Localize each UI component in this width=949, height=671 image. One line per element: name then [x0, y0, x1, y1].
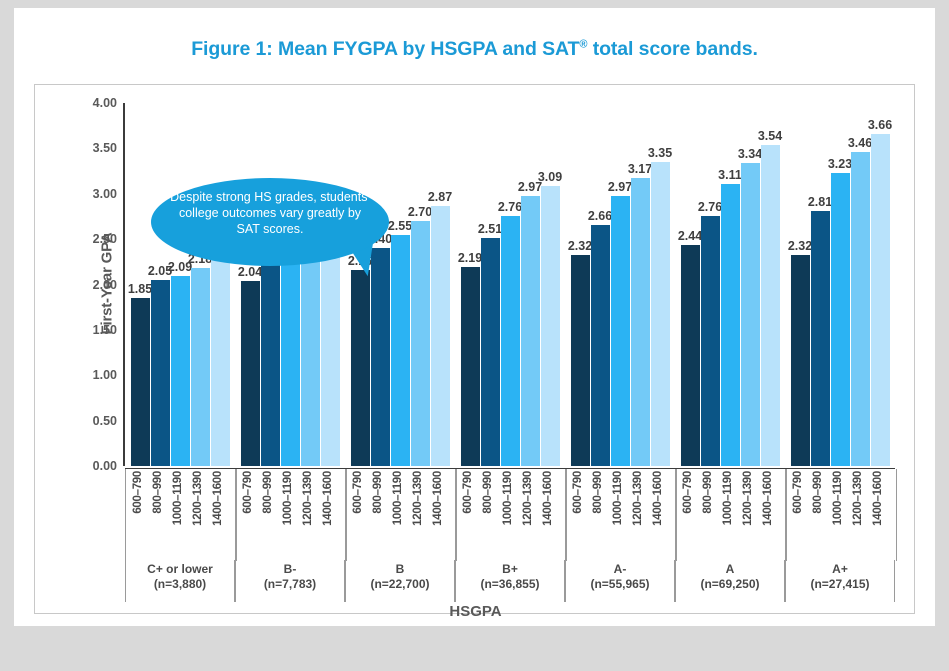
sat-band-label: 800–990 — [812, 471, 831, 514]
bar[interactable] — [481, 238, 500, 466]
sat-band-label: 800–990 — [592, 471, 611, 514]
y-axis-ticks: 0.000.501.001.502.002.503.003.504.00 — [71, 103, 117, 465]
sat-band-label: 800–990 — [152, 471, 171, 514]
y-axis-tick-label: 3.00 — [71, 187, 117, 201]
x-axis-band-ticks: 600–790800–9901000–11901200–13901400–160… — [125, 468, 895, 561]
sat-band-label: 1000–1190 — [832, 471, 851, 525]
bar-value-label: 2.87 — [428, 190, 452, 204]
sat-band-label: 600–790 — [572, 471, 591, 514]
bar[interactable] — [411, 221, 430, 466]
callout-text: Despite strong HS grades, students' coll… — [169, 189, 371, 237]
hsgpa-group-label: A-(n=55,965) — [565, 560, 675, 602]
hsgpa-group-label: B+(n=36,855) — [455, 560, 565, 602]
bar-group: 2.442.763.113.343.54 — [675, 103, 785, 466]
sat-band-label: 1400–1600 — [872, 471, 891, 526]
bar[interactable] — [461, 267, 480, 466]
sat-band-label: 800–990 — [702, 471, 721, 514]
hsgpa-group-count: (n=69,250) — [676, 577, 784, 592]
bar-column[interactable]: 2.76 — [701, 103, 720, 466]
bar[interactable] — [191, 268, 210, 466]
bar-column[interactable]: 2.97 — [521, 103, 540, 466]
bar[interactable] — [131, 298, 150, 466]
hsgpa-group-count: (n=22,700) — [346, 577, 454, 592]
bar-column[interactable]: 2.04 — [241, 103, 260, 466]
hsgpa-group-count: (n=36,855) — [456, 577, 564, 592]
sat-band-label: 1000–1190 — [722, 471, 741, 525]
x-axis-group-labels: C+ or lower(n=3,880)B-(n=7,783)B(n=22,70… — [125, 560, 895, 602]
bar[interactable] — [631, 178, 650, 466]
bar-group: 2.042.242.302.502.64 — [235, 103, 345, 466]
bar-column[interactable]: 2.51 — [481, 103, 500, 466]
bar-column[interactable]: 3.11 — [721, 103, 740, 466]
bar-group: 2.322.662.973.173.35 — [565, 103, 675, 466]
bar-column[interactable]: 2.44 — [681, 103, 700, 466]
bar-group: 2.162.402.552.702.87 — [345, 103, 455, 466]
bar-group: 2.192.512.762.973.09 — [455, 103, 565, 466]
bar-column[interactable]: 2.19 — [461, 103, 480, 466]
figure-page: Figure 1: Mean FYGPA by HSGPA and SAT® t… — [0, 0, 949, 671]
bar-column[interactable]: 1.85 — [131, 103, 150, 466]
sat-band-label: 1200–1390 — [522, 471, 541, 526]
bar-value-label: 3.09 — [538, 170, 562, 184]
y-axis-tick-label: 1.00 — [71, 368, 117, 382]
bar[interactable] — [851, 152, 870, 466]
bar-group: 2.322.813.233.463.66 — [785, 103, 895, 466]
bar-column[interactable]: 3.17 — [631, 103, 650, 466]
bar[interactable] — [351, 270, 370, 466]
hsgpa-group-label: B-(n=7,783) — [235, 560, 345, 602]
bar-value-label: 2.76 — [698, 200, 722, 214]
bar-value-label: 2.19 — [458, 251, 482, 265]
bar[interactable] — [521, 196, 540, 466]
bar-value-label: 3.66 — [868, 118, 892, 132]
bar-column[interactable]: 3.46 — [851, 103, 870, 466]
bar-value-label: 1.85 — [128, 282, 152, 296]
hsgpa-group-label: A(n=69,250) — [675, 560, 785, 602]
bar[interactable] — [541, 186, 560, 466]
bar-column[interactable]: 2.66 — [591, 103, 610, 466]
bar[interactable] — [831, 173, 850, 466]
hsgpa-group-name: C+ or lower — [126, 562, 234, 577]
title-suffix: total score bands. — [587, 38, 757, 60]
band-tick-group: 600–790800–9901000–11901200–13901400–160… — [125, 469, 237, 561]
y-axis-tick-label: 3.50 — [71, 141, 117, 155]
hsgpa-group-name: B+ — [456, 562, 564, 577]
bar[interactable] — [651, 162, 670, 466]
bar[interactable] — [431, 206, 450, 466]
bar-value-label: 2.66 — [588, 209, 612, 223]
bar-column[interactable]: 2.30 — [281, 103, 300, 466]
bar-column[interactable]: 2.64 — [321, 103, 340, 466]
bar-column[interactable]: 2.16 — [351, 103, 370, 466]
band-tick-group: 600–790800–9901000–11901200–13901400–160… — [235, 469, 347, 561]
bar[interactable] — [571, 255, 590, 466]
bar-column[interactable]: 3.23 — [831, 103, 850, 466]
bar-column[interactable]: 2.40 — [371, 103, 390, 466]
bar-value-label: 3.17 — [628, 162, 652, 176]
bar-column[interactable]: 3.66 — [871, 103, 890, 466]
sat-band-label: 600–790 — [132, 471, 151, 514]
bar-value-label: 2.76 — [498, 200, 522, 214]
bar-value-label: 2.70 — [408, 205, 432, 219]
bar-column[interactable]: 2.05 — [151, 103, 170, 466]
bar[interactable] — [681, 245, 700, 466]
bar-column[interactable]: 3.54 — [761, 103, 780, 466]
bar-column[interactable]: 2.32 — [571, 103, 590, 466]
bar[interactable] — [791, 255, 810, 466]
bar-value-label: 2.55 — [388, 219, 412, 233]
bar[interactable] — [741, 163, 760, 466]
y-axis-tick-label: 4.00 — [71, 96, 117, 110]
sat-band-label: 1200–1390 — [742, 471, 761, 526]
sat-band-label: 800–990 — [262, 471, 281, 514]
bar[interactable] — [811, 211, 830, 466]
sat-band-label: 1000–1190 — [392, 471, 411, 525]
bar-column[interactable]: 2.32 — [791, 103, 810, 466]
y-axis-tick-label: 0.50 — [71, 414, 117, 428]
bar-group: 1.852.052.092.182.56 — [125, 103, 235, 466]
hsgpa-group-count: (n=55,965) — [566, 577, 674, 592]
bar-column[interactable]: 2.24 — [261, 103, 280, 466]
bar-column[interactable]: 2.56 — [211, 103, 230, 466]
hsgpa-group-name: A — [676, 562, 784, 577]
bar-value-label: 3.46 — [848, 136, 872, 150]
bar-value-label: 3.34 — [738, 147, 762, 161]
sat-band-label: 1400–1600 — [432, 471, 451, 526]
figure-card: Figure 1: Mean FYGPA by HSGPA and SAT® t… — [14, 8, 935, 626]
y-axis-tick-label: 2.50 — [71, 232, 117, 246]
bar[interactable] — [591, 225, 610, 466]
bar-column[interactable]: 2.70 — [411, 103, 430, 466]
bar[interactable] — [871, 134, 890, 466]
bar[interactable] — [501, 216, 520, 466]
bar-column[interactable]: 2.50 — [301, 103, 320, 466]
bar[interactable] — [241, 281, 260, 466]
bar-value-label: 2.32 — [568, 239, 592, 253]
callout-annotation: Despite strong HS grades, students' coll… — [151, 178, 389, 275]
bar-value-label: 3.54 — [758, 129, 782, 143]
bar-value-label: 3.23 — [828, 157, 852, 171]
y-axis-tick-label: 0.00 — [71, 459, 117, 473]
bar-value-label: 3.11 — [718, 168, 742, 182]
bar[interactable] — [151, 280, 170, 466]
sat-band-label: 600–790 — [352, 471, 371, 514]
bar-value-label: 3.35 — [648, 146, 672, 160]
sat-band-label: 600–790 — [462, 471, 481, 514]
bar-value-label: 2.51 — [478, 222, 502, 236]
bar[interactable] — [171, 276, 190, 466]
y-axis-tick-label: 2.00 — [71, 278, 117, 292]
bar-column[interactable]: 2.87 — [431, 103, 450, 466]
sat-band-label: 1400–1600 — [762, 471, 781, 526]
bar[interactable] — [761, 145, 780, 466]
bar[interactable] — [281, 257, 300, 466]
bar-value-label: 2.44 — [678, 229, 702, 243]
hsgpa-group-label: A+(n=27,415) — [785, 560, 895, 602]
bar[interactable] — [391, 235, 410, 466]
sat-band-label: 600–790 — [792, 471, 811, 514]
bar[interactable] — [721, 184, 740, 466]
bar-column[interactable]: 3.09 — [541, 103, 560, 466]
band-tick-group: 600–790800–9901000–11901200–13901400–160… — [345, 469, 457, 561]
hsgpa-group-count: (n=3,880) — [126, 577, 234, 592]
hsgpa-group-name: B- — [236, 562, 344, 577]
bar-value-label: 2.81 — [808, 195, 832, 209]
bars-plot-area: 1.852.052.092.182.562.042.242.302.502.64… — [125, 103, 895, 466]
sat-band-label: 600–790 — [242, 471, 261, 514]
bar[interactable] — [261, 263, 280, 466]
band-tick-group: 600–790800–9901000–11901200–13901400–160… — [455, 469, 567, 561]
hsgpa-group-name: B — [346, 562, 454, 577]
bar[interactable] — [371, 248, 390, 466]
title-prefix: Figure 1: Mean FYGPA by HSGPA and SAT — [191, 38, 579, 60]
bar-column[interactable]: 2.18 — [191, 103, 210, 466]
bar-column[interactable]: 2.81 — [811, 103, 830, 466]
x-axis-title: HSGPA — [35, 603, 916, 620]
sat-band-label: 800–990 — [482, 471, 501, 514]
sat-band-label: 1400–1600 — [652, 471, 671, 526]
sat-band-label: 1200–1390 — [412, 471, 431, 526]
sat-band-label: 1400–1600 — [322, 471, 341, 526]
band-tick-group: 600–790800–9901000–11901200–13901400–160… — [565, 469, 677, 561]
bar[interactable] — [701, 216, 720, 466]
bar-value-label: 2.97 — [608, 180, 632, 194]
sat-band-label: 1000–1190 — [612, 471, 631, 525]
bar-column[interactable]: 2.09 — [171, 103, 190, 466]
sat-band-label: 1200–1390 — [192, 471, 211, 526]
hsgpa-group-name: A- — [566, 562, 674, 577]
sat-band-label: 1400–1600 — [212, 471, 231, 526]
bar-column[interactable]: 2.55 — [391, 103, 410, 466]
page-title: Figure 1: Mean FYGPA by HSGPA and SAT® t… — [14, 38, 935, 61]
chart-plot-frame: First-Year GPA 0.000.501.001.502.002.503… — [34, 84, 915, 614]
sat-band-label: 1200–1390 — [632, 471, 651, 526]
hsgpa-group-count: (n=27,415) — [786, 577, 894, 592]
bar-value-label: 2.32 — [788, 239, 812, 253]
bar[interactable] — [611, 196, 630, 466]
sat-band-label: 600–790 — [682, 471, 701, 514]
sat-band-label: 800–990 — [372, 471, 391, 514]
sat-band-label: 1000–1190 — [282, 471, 301, 525]
hsgpa-group-label: C+ or lower(n=3,880) — [125, 560, 235, 602]
bar-column[interactable]: 2.76 — [501, 103, 520, 466]
y-axis-tick-label: 1.50 — [71, 323, 117, 337]
hsgpa-group-label: B(n=22,700) — [345, 560, 455, 602]
hsgpa-group-count: (n=7,783) — [236, 577, 344, 592]
bar-column[interactable]: 3.34 — [741, 103, 760, 466]
hsgpa-group-name: A+ — [786, 562, 894, 577]
band-tick-group: 600–790800–9901000–11901200–13901400–160… — [675, 469, 787, 561]
sat-band-label: 1000–1190 — [172, 471, 191, 525]
band-tick-group: 600–790800–9901000–11901200–13901400–160… — [785, 469, 897, 561]
sat-band-label: 1200–1390 — [302, 471, 321, 526]
sat-band-label: 1000–1190 — [502, 471, 521, 525]
sat-band-label: 1400–1600 — [542, 471, 561, 526]
bar-column[interactable]: 3.35 — [651, 103, 670, 466]
sat-band-label: 1200–1390 — [852, 471, 871, 526]
bar-column[interactable]: 2.97 — [611, 103, 630, 466]
